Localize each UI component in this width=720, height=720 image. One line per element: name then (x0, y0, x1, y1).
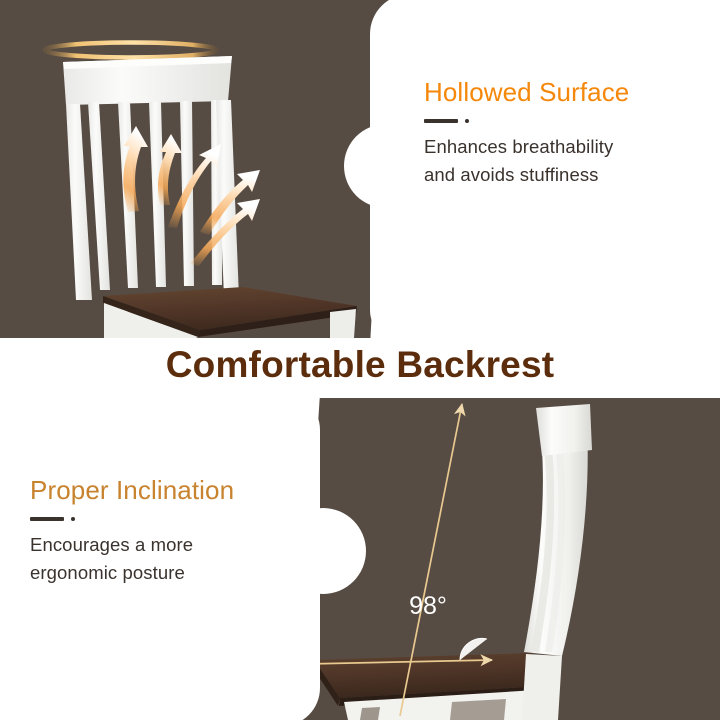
feature-divider (424, 119, 696, 123)
panel-top-right-knob (344, 124, 428, 208)
feature-proper-inclination: Proper Inclination Encourages a more erg… (30, 476, 310, 587)
chair-front-photo (0, 0, 400, 338)
halo-ring-icon (45, 43, 217, 58)
divider-dot (71, 517, 75, 521)
feature-hollowed-surface: Hollowed Surface Enhances breathability … (424, 78, 696, 189)
feature-body-line-1: Encourages a more (30, 531, 310, 559)
divider-bar (424, 119, 458, 123)
feature-body-line-2: ergonomic posture (30, 559, 310, 587)
angle-label: 98° (409, 592, 447, 620)
feature-body-line-2: and avoids stuffiness (424, 161, 696, 189)
feature-body-line-1: Enhances breathability (424, 133, 696, 161)
divider-bar (30, 517, 64, 521)
backrest-slats (88, 100, 223, 290)
infographic-stage: Hollowed Surface Enhances breathability … (0, 0, 720, 720)
divider-dot (465, 119, 469, 123)
feature-title-proper-inclination: Proper Inclination (30, 476, 310, 506)
page-title: Comfortable Backrest (0, 344, 720, 386)
feature-divider (30, 517, 310, 521)
feature-title-hollowed-surface: Hollowed Surface (424, 78, 696, 108)
